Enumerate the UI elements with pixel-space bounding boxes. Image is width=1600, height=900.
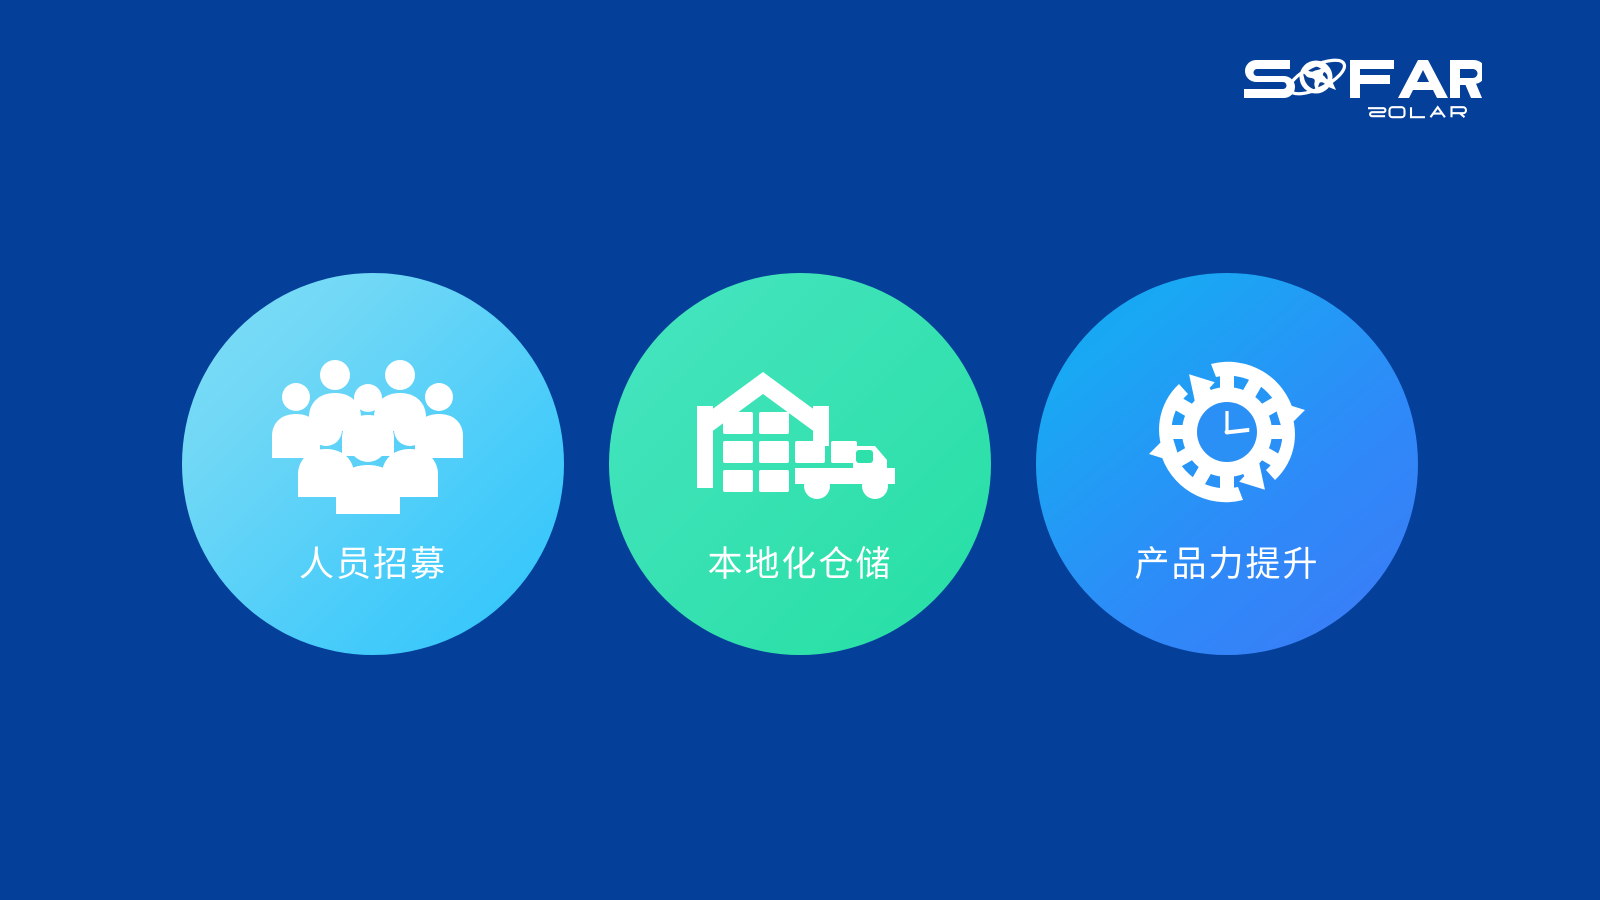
feature-card-label: 本地化仓储 [707, 547, 892, 582]
feature-card-product-capability[interactable]: 产品力提升 [1036, 273, 1418, 655]
people-group-icon [268, 357, 478, 507]
slide-canvas: 人员招募 [0, 0, 1600, 900]
globe-orbit-icon [1285, 54, 1349, 101]
sofar-solar-logo [1242, 46, 1482, 122]
feature-card-recruitment[interactable]: 人员招募 [182, 273, 564, 655]
gear-clock-cycle-icon [1122, 357, 1332, 507]
warehouse-truck-icon [695, 357, 905, 507]
feature-card-localized-warehousing[interactable]: 本地化仓储 [609, 273, 991, 655]
feature-card-label: 产品力提升 [1134, 547, 1319, 582]
feature-card-label: 人员招募 [299, 547, 447, 582]
feature-circle-row: 人员招募 [0, 268, 1600, 660]
